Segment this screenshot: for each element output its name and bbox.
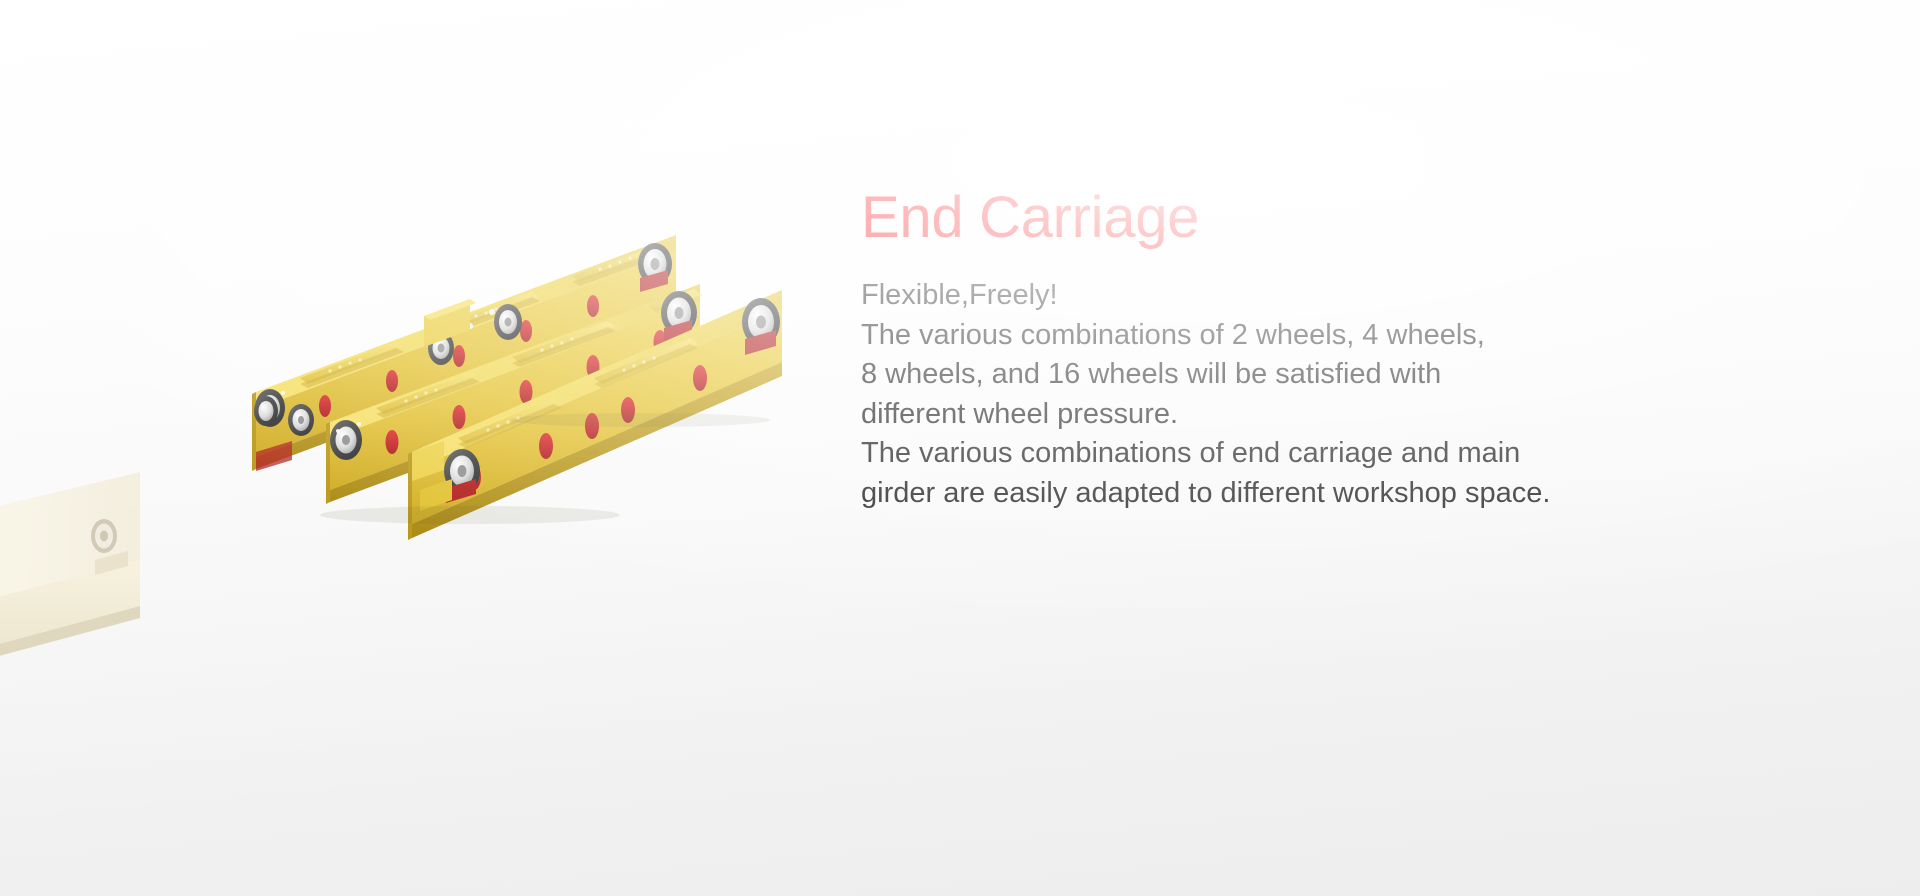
text-column: End Carriage Flexible,Freely! The variou… [861, 186, 1561, 513]
description-line-1: Flexible,Freely! [861, 276, 1561, 316]
ghost-beam [0, 472, 140, 672]
slide-canvas: End Carriage Flexible,Freely! The variou… [0, 0, 1920, 896]
end-carriage-illustration [0, 0, 860, 896]
description-line-2: The various combinations of 2 wheels, 4 … [861, 316, 1561, 356]
description-block: Flexible,Freely! The various combination… [861, 250, 1561, 513]
wheel-assembly-middle-left [330, 420, 362, 460]
description-line-5: The various combinations of end carriage… [861, 434, 1561, 474]
wheel-assembly-front-right [742, 298, 780, 355]
wheel-assembly-left-outer2 [288, 404, 314, 436]
description-line-3: 8 wheels, and 16 wheels will be satisfie… [861, 355, 1561, 395]
description-line-4: different wheel pressure. [861, 395, 1561, 435]
page-title: End Carriage [861, 186, 1561, 250]
description-line-6: girder are easily adapted to different w… [861, 474, 1561, 514]
ghost-wheel [91, 519, 117, 553]
wheel-assembly-left-outer [254, 396, 278, 426]
wheel-assembly-middle-inner [494, 304, 522, 340]
